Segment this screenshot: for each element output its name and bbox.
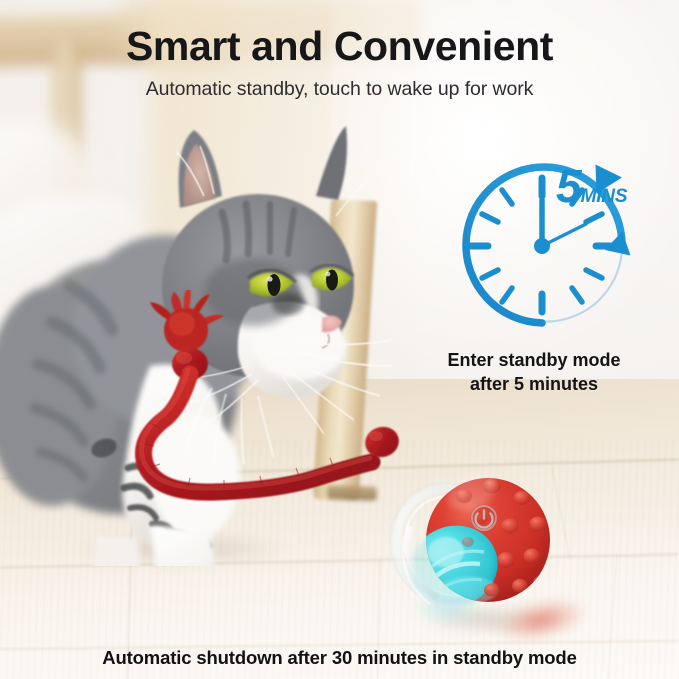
clock-center-pin: [534, 238, 550, 254]
product-marketing-image: 5MINS Smart and Convenient Automatic sta…: [0, 0, 679, 679]
page-title: Smart and Convenient: [0, 26, 679, 67]
clock-duration-value: 5: [556, 160, 581, 212]
bottom-caption: Automatic shutdown after 30 minutes in s…: [0, 647, 679, 669]
rope-tassel: [150, 290, 224, 352]
clock-duration-unit: MINS: [581, 186, 628, 207]
cat-front-legs: [92, 526, 223, 566]
clock-caption: Enter standby mode after 5 minutes: [400, 348, 668, 396]
clock-dial-faint-arc: [494, 246, 622, 322]
clock-duration-label: 5MINS: [556, 163, 627, 209]
ball-glow-halo: [410, 532, 494, 604]
power-button: [471, 505, 498, 532]
page-subtitle: Automatic standby, touch to wake up for …: [0, 78, 679, 101]
clock-caption-line-2: after 5 minutes: [400, 372, 668, 396]
clock-caption-line-1: Enter standby mode: [400, 348, 668, 372]
